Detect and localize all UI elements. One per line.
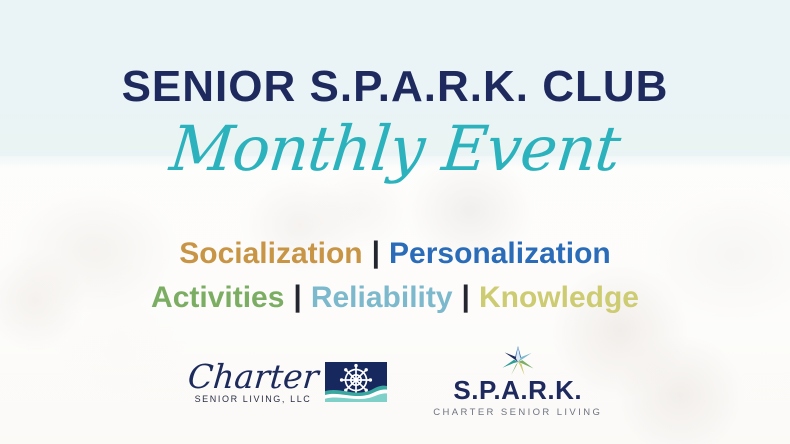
spark-tagline: CHARTER SENIOR LIVING [433, 407, 602, 418]
multicolor-star-icon [492, 346, 544, 376]
pillar-knowledge: Knowledge [479, 281, 639, 315]
spark-logo: S.P.A.R.K. CHARTER SENIOR LIVING [433, 346, 602, 418]
ship-wheel-icon [325, 362, 387, 402]
charter-wordmark-group: Charter SENIOR LIVING, LLC [188, 360, 319, 404]
pillar-activities: Activities [151, 281, 284, 315]
spark-wordmark: S.P.A.R.K. [453, 377, 582, 404]
charter-senior-living-logo: Charter SENIOR LIVING, LLC [188, 360, 388, 404]
pillar-separator: | [363, 236, 389, 270]
charter-tagline: SENIOR LIVING, LLC [195, 395, 312, 404]
page-subtitle: Monthly Event [0, 112, 790, 185]
pillars-line-1: Socialization|Personalization [0, 237, 790, 271]
pillar-personalization: Personalization [389, 237, 611, 271]
pillars-line-2: Activities|Reliability|Knowledge [0, 281, 790, 315]
charter-wordmark: Charter [186, 360, 319, 393]
pillar-reliability: Reliability [311, 281, 453, 315]
promo-banner: SENIOR S.P.A.R.K. CLUB Monthly Event Soc… [0, 0, 790, 444]
logo-row: Charter SENIOR LIVING, LLC [0, 346, 790, 418]
pillar-separator: | [284, 280, 310, 314]
page-title: SENIOR S.P.A.R.K. CLUB [0, 62, 790, 112]
pillar-separator: | [453, 280, 479, 314]
pillar-socialization: Socialization [179, 237, 362, 271]
